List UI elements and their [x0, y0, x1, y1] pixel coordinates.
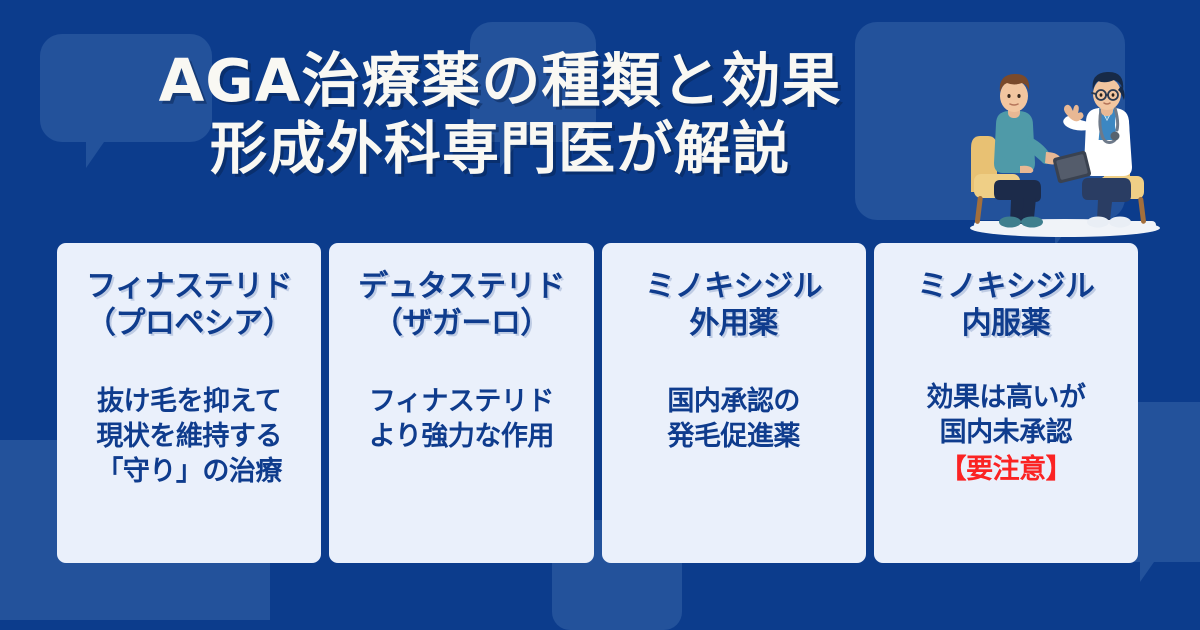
infographic-stage: AGA治療薬の種類と効果 形成外科専門医が解説: [0, 0, 1200, 630]
treatment-card-dutasteride[interactable]: デュタステリド （ザガーロ） フィナステリド より強力な作用: [329, 243, 593, 563]
title-line-secondary: 形成外科専門医が解説: [0, 118, 1000, 182]
doctor-patient-consultation-illustration: [960, 58, 1170, 243]
card-title: ミノキシジル 内服薬: [917, 269, 1094, 342]
card-description: フィナステリド より強力な作用: [369, 384, 554, 454]
treatment-card-minoxidil-oral[interactable]: ミノキシジル 内服薬 効果は高いが 国内未承認 【要注意】: [874, 243, 1138, 563]
card-title: ミノキシジル 外用薬: [645, 269, 822, 342]
title-line-primary: AGA治療薬の種類と効果: [0, 48, 1000, 114]
card-warning-badge: 【要注意】: [940, 452, 1073, 487]
treatment-card-minoxidil-topical[interactable]: ミノキシジル 外用薬 国内承認の 発毛促進薬: [602, 243, 866, 563]
card-description: 効果は高いが 国内未承認: [926, 380, 1085, 450]
card-description: 国内承認の 発毛促進薬: [667, 384, 800, 454]
treatment-card-row: フィナステリド （プロペシア） 抜け毛を抑えて 現状を維持する 「守り」の治療 …: [57, 243, 1138, 563]
card-title: デュタステリド （ザガーロ）: [358, 269, 565, 342]
speech-bubble-tail: [1140, 562, 1154, 582]
card-title: フィナステリド （プロペシア）: [86, 269, 293, 342]
doctor-figure: [1052, 72, 1132, 228]
treatment-card-finasteride[interactable]: フィナステリド （プロペシア） 抜け毛を抑えて 現状を維持する 「守り」の治療: [57, 243, 321, 563]
card-description: 抜け毛を抑えて 現状を維持する 「守り」の治療: [96, 384, 282, 489]
patient-figure: [994, 74, 1061, 228]
page-title: AGA治療薬の種類と効果 形成外科専門医が解説: [0, 48, 1000, 182]
